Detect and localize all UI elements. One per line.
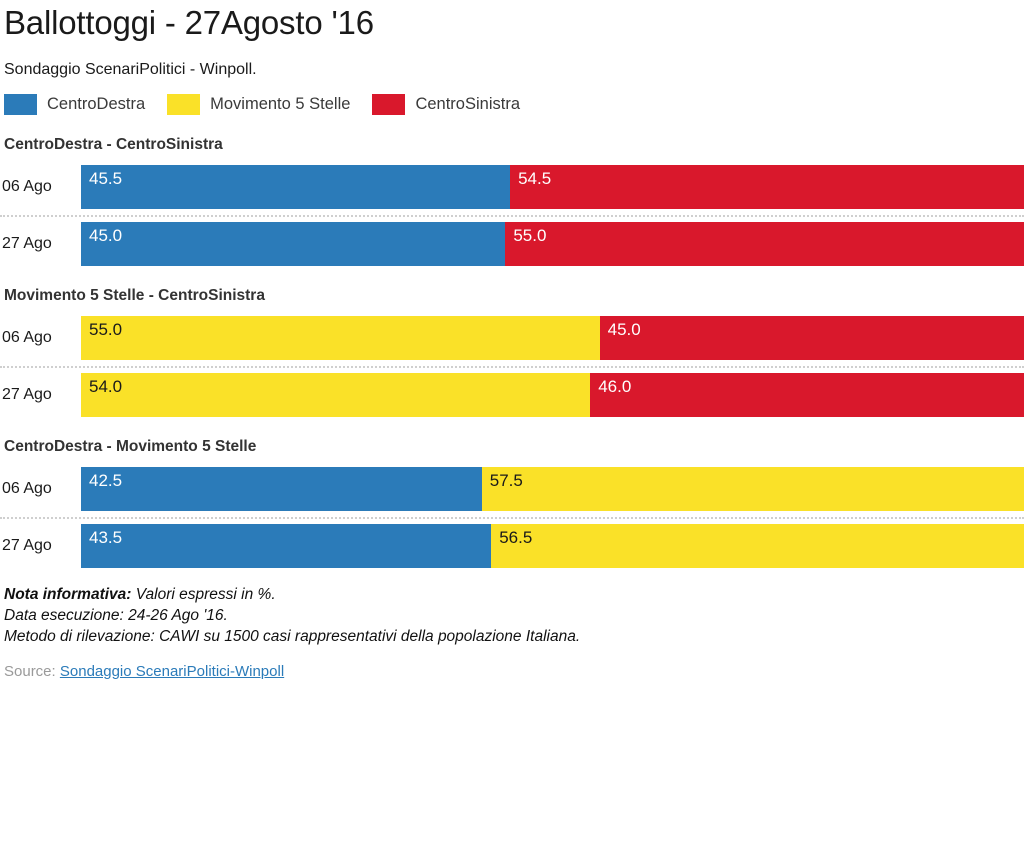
legend-swatch-icon [4,94,37,115]
group-title: CentroDestra - CentroSinistra [0,115,1024,154]
bar-row: 06 Ago42.557.5 [0,467,1024,511]
group-rows: 06 Ago55.045.027 Ago54.046.0 [0,316,1024,417]
bar-segment[interactable]: 45.5 [81,165,510,209]
chart-groups: CentroDestra - CentroSinistra06 Ago45.55… [0,115,1024,568]
bar-row: 06 Ago55.045.0 [0,316,1024,360]
bar-row: 27 Ago54.046.0 [0,373,1024,417]
bar-value-label: 42.5 [89,471,122,491]
legend-item[interactable]: CentroDestra [4,94,145,115]
bar-value-label: 56.5 [499,528,532,548]
chart-legend: CentroDestraMovimento 5 StelleCentroSini… [0,79,1024,115]
bar-track: 45.055.0 [81,222,1024,266]
bar-value-label: 55.0 [89,320,122,340]
bar-row: 27 Ago43.556.5 [0,524,1024,568]
legend-label: Movimento 5 Stelle [210,95,350,114]
row-separator [0,215,1024,217]
bar-segment[interactable]: 43.5 [81,524,491,568]
source-line: Source: Sondaggio ScenariPolitici-Winpol… [0,647,1024,681]
bar-value-label: 54.0 [89,377,122,397]
footnotes: Nota informativa: Valori espressi in %. … [0,568,1024,647]
bar-segment[interactable]: 55.0 [505,222,1024,266]
footnote-line-1: Nota informativa: Valori espressi in %. [4,584,1024,605]
bar-segment[interactable]: 54.5 [510,165,1024,209]
page-title: Ballottoggi - 27Agosto '16 [0,0,1024,42]
footnote-line-2: Data esecuzione: 24-26 Ago '16. [4,605,1024,626]
footnote-value: Valori espressi in %. [136,586,276,603]
chart-group: Movimento 5 Stelle - CentroSinistra06 Ag… [0,266,1024,417]
chart-subtitle: Sondaggio ScenariPolitici - Winpoll. [0,42,1024,79]
group-rows: 06 Ago45.554.527 Ago45.055.0 [0,165,1024,266]
group-rows: 06 Ago42.557.527 Ago43.556.5 [0,467,1024,568]
row-separator [0,517,1024,519]
source-link[interactable]: Sondaggio ScenariPolitici-Winpoll [60,663,284,680]
row-label: 27 Ago [0,235,81,253]
bar-row: 27 Ago45.055.0 [0,222,1024,266]
bar-value-label: 54.5 [518,169,551,189]
bar-value-label: 43.5 [89,528,122,548]
group-title: CentroDestra - Movimento 5 Stelle [0,417,1024,456]
bar-value-label: 55.0 [513,226,546,246]
bar-value-label: 45.0 [608,320,641,340]
row-label: 06 Ago [0,178,81,196]
bar-segment[interactable]: 54.0 [81,373,590,417]
row-label: 06 Ago [0,329,81,347]
legend-item[interactable]: CentroSinistra [372,94,520,115]
group-title: Movimento 5 Stelle - CentroSinistra [0,266,1024,305]
footnote-line-3: Metodo di rilevazione: CAWI su 1500 casi… [4,626,1024,647]
bar-value-label: 57.5 [490,471,523,491]
bar-track: 45.554.5 [81,165,1024,209]
legend-swatch-icon [372,94,405,115]
bar-value-label: 46.0 [598,377,631,397]
chart-group: CentroDestra - CentroSinistra06 Ago45.55… [0,115,1024,266]
bar-track: 54.046.0 [81,373,1024,417]
row-label: 06 Ago [0,480,81,498]
bar-track: 55.045.0 [81,316,1024,360]
bar-value-label: 45.5 [89,169,122,189]
legend-label: CentroDestra [47,95,145,114]
poll-chart: Ballottoggi - 27Agosto '16 Sondaggio Sce… [0,0,1024,863]
bar-segment[interactable]: 57.5 [482,467,1024,511]
bar-segment[interactable]: 42.5 [81,467,482,511]
chart-group: CentroDestra - Movimento 5 Stelle06 Ago4… [0,417,1024,568]
bar-row: 06 Ago45.554.5 [0,165,1024,209]
bar-segment[interactable]: 55.0 [81,316,600,360]
bar-track: 42.557.5 [81,467,1024,511]
legend-item[interactable]: Movimento 5 Stelle [167,94,350,115]
bar-segment[interactable]: 45.0 [81,222,505,266]
bar-segment[interactable]: 45.0 [600,316,1024,360]
row-separator [0,366,1024,368]
row-label: 27 Ago [0,386,81,404]
bar-value-label: 45.0 [89,226,122,246]
legend-swatch-icon [167,94,200,115]
legend-label: CentroSinistra [415,95,520,114]
footnote-label: Nota informativa: [4,586,131,603]
row-label: 27 Ago [0,537,81,555]
source-prefix: Source: [4,663,56,680]
bar-segment[interactable]: 46.0 [590,373,1024,417]
bar-track: 43.556.5 [81,524,1024,568]
bar-segment[interactable]: 56.5 [491,524,1024,568]
